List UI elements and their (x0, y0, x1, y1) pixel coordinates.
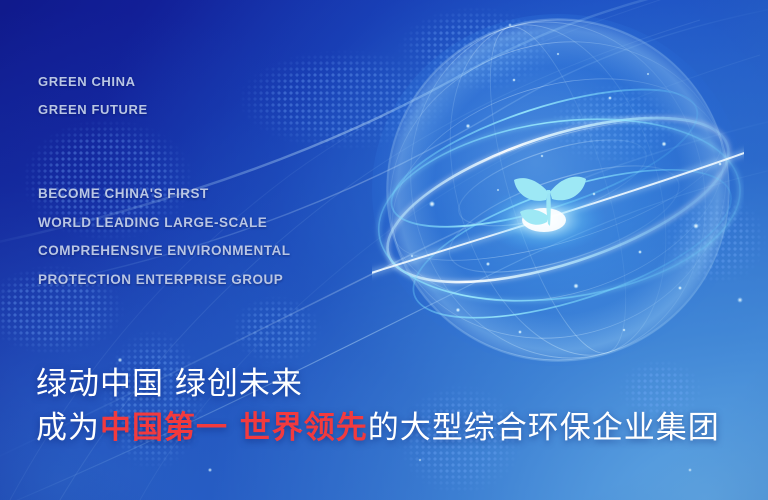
tagline-mid-line-1: BECOME CHINA'S FIRST (38, 180, 291, 209)
headline-prefix: 成为 (36, 410, 100, 446)
hero-banner: GREEN CHINA GREEN FUTURE BECOME CHINA'S … (0, 0, 768, 500)
tagline-top-line-1: GREEN CHINA (38, 68, 148, 96)
tagline-mid-line-3: COMPREHENSIVE ENVIRONMENTAL (38, 237, 291, 266)
headline-line-2: 成为中国第一 世界领先的大型综合环保企业集团 (36, 406, 720, 450)
headline-suffix: 的大型综合环保企业集团 (368, 410, 720, 446)
wireframe-globe (372, 14, 744, 366)
headline-line-1: 绿动中国 绿创未来 (36, 362, 720, 406)
headline-highlight: 中国第一 世界领先 (100, 410, 368, 446)
tagline-top-line-2: GREEN FUTURE (38, 96, 148, 124)
tagline-top: GREEN CHINA GREEN FUTURE (38, 68, 148, 124)
headline-block: 绿动中国 绿创未来 成为中国第一 世界领先的大型综合环保企业集团 (36, 362, 720, 450)
tagline-mid-line-4: PROTECTION ENTERPRISE GROUP (38, 266, 291, 295)
tagline-mid: BECOME CHINA'S FIRST WORLD LEADING LARGE… (38, 180, 291, 294)
tagline-mid-line-2: WORLD LEADING LARGE-SCALE (38, 209, 291, 238)
sprout-seedling-icon (502, 166, 594, 274)
